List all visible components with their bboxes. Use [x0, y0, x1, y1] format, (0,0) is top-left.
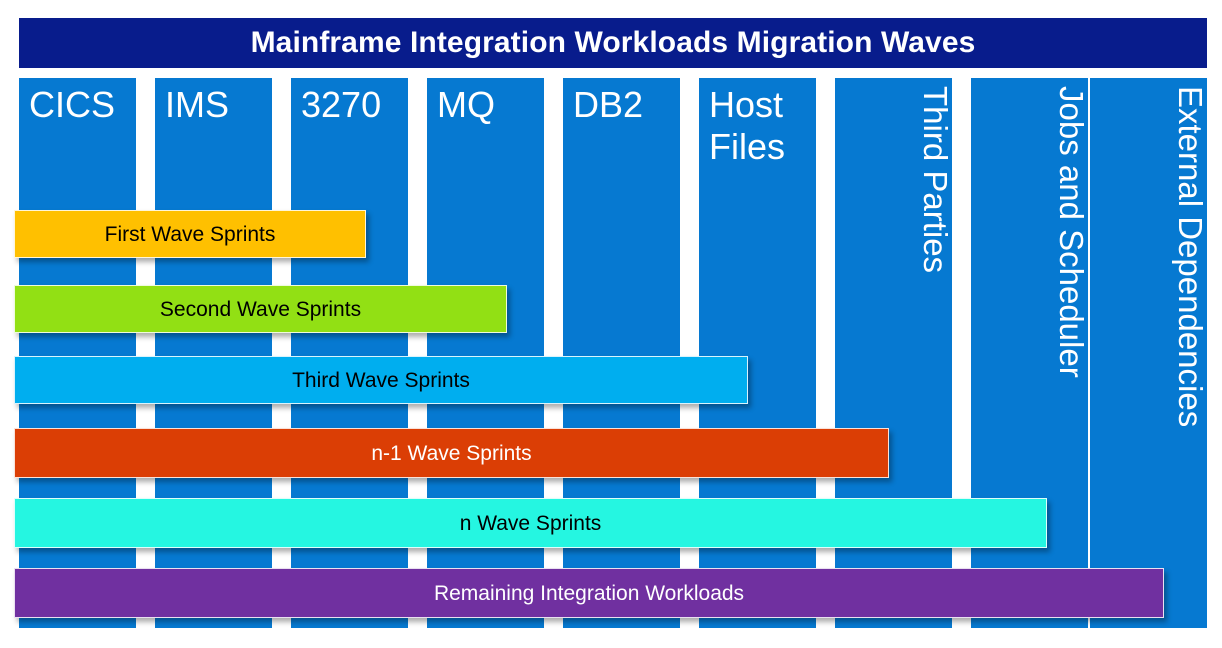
wave-bar-label: Third Wave Sprints	[292, 370, 470, 391]
wave-bar-remaining-integration-workloads[interactable]: Remaining Integration Workloads	[14, 568, 1164, 618]
wave-bar-label: Remaining Integration Workloads	[434, 583, 744, 604]
diagram-canvas: Mainframe Integration Workloads Migratio…	[0, 0, 1222, 648]
wave-bar-second-wave-sprints[interactable]: Second Wave Sprints	[14, 285, 507, 333]
wave-bar-n-1-wave-sprints[interactable]: n-1 Wave Sprints	[14, 428, 889, 478]
wave-bar-third-wave-sprints[interactable]: Third Wave Sprints	[14, 356, 748, 404]
wave-bar-label: n Wave Sprints	[460, 513, 602, 534]
wave-bar-first-wave-sprints[interactable]: First Wave Sprints	[14, 210, 366, 258]
wave-bar-label: First Wave Sprints	[105, 224, 276, 245]
wave-bar-n-wave-sprints[interactable]: n Wave Sprints	[14, 498, 1047, 548]
wave-bar-label: Second Wave Sprints	[160, 299, 361, 320]
migration-wave-bars: First Wave SprintsSecond Wave SprintsThi…	[0, 0, 1222, 648]
wave-bar-label: n-1 Wave Sprints	[371, 443, 531, 464]
